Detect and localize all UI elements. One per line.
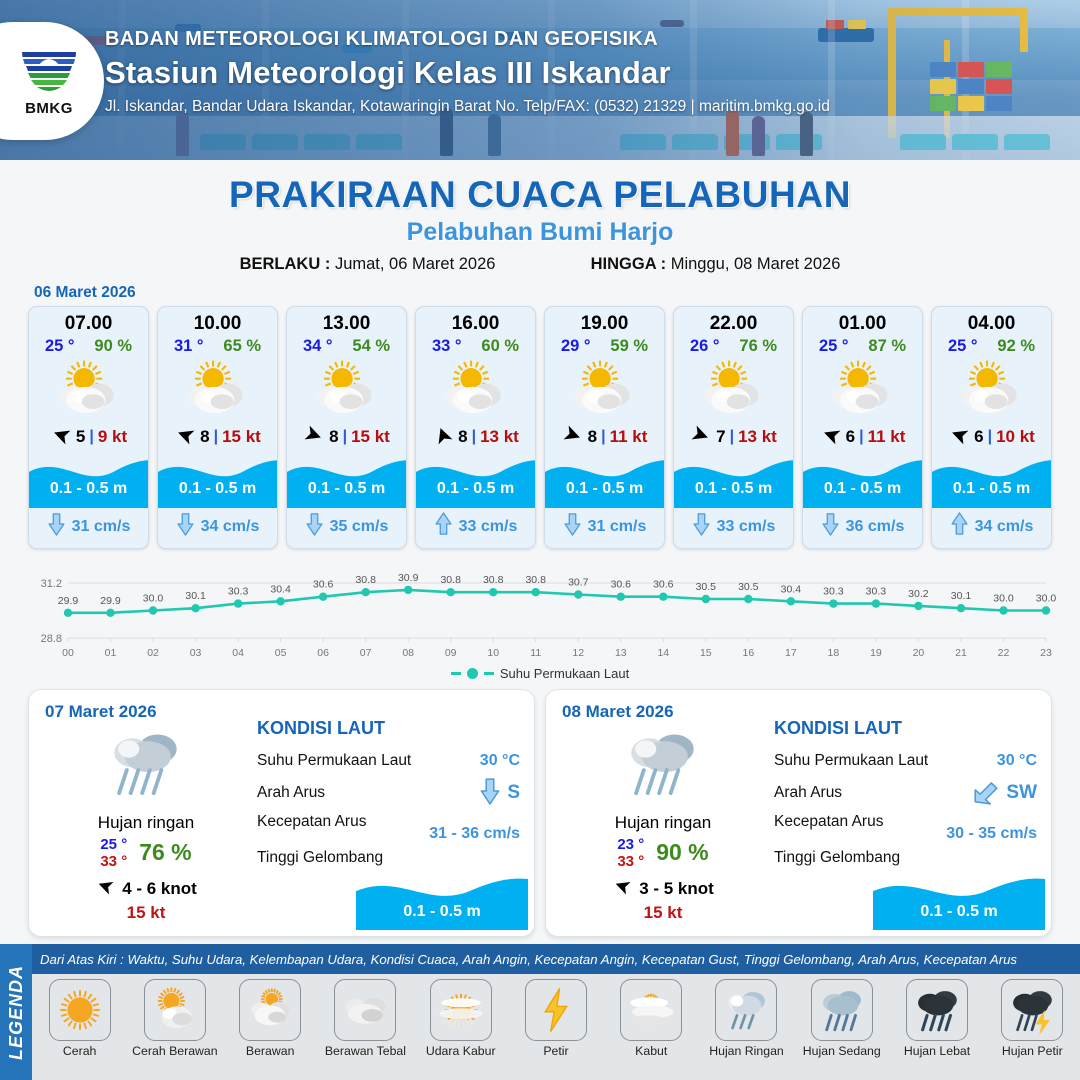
svg-text:14: 14 — [657, 647, 669, 659]
current-speed: 31 cm/s — [588, 518, 647, 536]
current-direction-value: SW — [1006, 782, 1037, 804]
hourly-card[interactable]: 13.00 34 ° 54 % 8 | 15 kt 0.1 - 0.5 m 35… — [286, 306, 407, 549]
gust-speed: 10 kt — [996, 427, 1035, 447]
card-humidity: 92 % — [997, 337, 1035, 356]
card-time: 13.00 — [287, 307, 406, 337]
daily-forecast-panel[interactable]: 08 Maret 2026 Hujan ringan 23 ° 33 ° 90 … — [545, 689, 1052, 937]
legenda-side-label: LEGENDA — [6, 964, 27, 1059]
gust-speed: 13 kt — [738, 427, 777, 447]
wave-height-value: 0.1 - 0.5 m — [29, 480, 148, 498]
wind-separator: | — [730, 428, 734, 446]
svg-text:10: 10 — [487, 647, 499, 659]
svg-text:30.8: 30.8 — [483, 574, 504, 586]
panel-temp-max: 33 ° — [100, 853, 127, 870]
wind-separator: | — [859, 428, 863, 446]
panel-wave-value: 0.1 - 0.5 m — [356, 903, 528, 921]
card-humidity: 87 % — [868, 337, 906, 356]
svg-text:30.4: 30.4 — [781, 583, 802, 595]
legend-label: Suhu Permukaan Laut — [500, 666, 629, 681]
wave-height-value: 0.1 - 0.5 m — [803, 480, 922, 498]
svg-text:09: 09 — [445, 647, 457, 659]
berlaku-value: Jumat, 06 Maret 2026 — [335, 255, 496, 273]
daily-forecast-row: 07 Maret 2026 Hujan ringan 25 ° 33 ° 76 … — [0, 681, 1080, 937]
current-speed-value: 30 - 35 cm/s — [946, 825, 1037, 842]
svg-text:30.6: 30.6 — [611, 579, 632, 591]
legenda-item-label: Cerah Berawan — [127, 1044, 222, 1058]
arrow-down-icon — [479, 777, 501, 810]
wind-separator: | — [89, 428, 93, 446]
legenda-item-label: Berawan Tebal — [318, 1044, 413, 1058]
bmkg-logo-text: BMKG — [12, 100, 86, 117]
agency-name: BADAN METEOROLOGI KLIMATOLOGI DAN GEOFIS… — [105, 28, 830, 51]
current-direction-arrow-icon — [821, 512, 840, 541]
wave-height-value: 0.1 - 0.5 m — [416, 480, 535, 498]
svg-text:20: 20 — [913, 647, 925, 659]
hingga-label: HINGGA : — [591, 255, 666, 273]
legenda-item: Cerah Berawan — [127, 979, 222, 1058]
svg-text:04: 04 — [232, 647, 244, 659]
legenda-item-label: Hujan Sedang — [794, 1044, 889, 1058]
svg-text:30.0: 30.0 — [143, 593, 164, 605]
panel-temp-min: 23 ° — [617, 836, 644, 853]
bmkg-logo-icon — [18, 36, 80, 98]
light-rain-icon — [715, 979, 777, 1041]
legenda-item: Berawan Tebal — [318, 979, 413, 1058]
hourly-card[interactable]: 10.00 31 ° 65 % 8 | 15 kt 0.1 - 0.5 m 34… — [157, 306, 278, 549]
svg-text:22: 22 — [998, 647, 1010, 659]
wind-separator: | — [601, 428, 605, 446]
station-name: Stasiun Meteorologi Kelas III Iskandar — [105, 55, 830, 91]
sst-label: Suhu Permukaan Laut — [774, 752, 928, 770]
sun-behind-cloud-icon — [287, 358, 406, 420]
card-humidity: 76 % — [739, 337, 777, 356]
svg-text:30.2: 30.2 — [908, 588, 929, 600]
legenda-side-tab: LEGENDA — [0, 944, 32, 1080]
svg-text:30.0: 30.0 — [993, 593, 1014, 605]
current-speed-value: 31 - 36 cm/s — [429, 825, 520, 842]
panel-temp-max: 33 ° — [617, 853, 644, 870]
sea-condition-title: KONDISI LAUT — [257, 718, 520, 739]
current-speed: 31 cm/s — [72, 518, 131, 536]
wave-height-value: 0.1 - 0.5 m — [545, 480, 664, 498]
svg-text:13: 13 — [615, 647, 627, 659]
card-time: 07.00 — [29, 307, 148, 337]
page-title: PRAKIRAAN CUACA PELABUHAN — [0, 174, 1080, 216]
wind-direction-arrow-icon — [174, 424, 196, 451]
card-temperature: 26 ° — [690, 337, 720, 356]
wind-separator: | — [214, 428, 218, 446]
wave-height-graphic: 0.1 - 0.5 m — [674, 454, 793, 508]
svg-text:29.9: 29.9 — [100, 595, 121, 607]
card-humidity: 65 % — [223, 337, 261, 356]
svg-text:11: 11 — [530, 647, 541, 659]
daily-forecast-panel[interactable]: 07 Maret 2026 Hujan ringan 25 ° 33 ° 76 … — [28, 689, 535, 937]
hourly-card[interactable]: 16.00 33 ° 60 % 8 | 13 kt 0.1 - 0.5 m 33… — [415, 306, 536, 549]
wind-direction-arrow-icon — [303, 424, 325, 451]
gust-speed: 11 kt — [610, 427, 648, 447]
legenda-item: Hujan Sedang — [794, 979, 889, 1058]
svg-text:19: 19 — [870, 647, 882, 659]
wind-direction-arrow-icon — [690, 424, 712, 451]
panel-gust: 15 kt — [568, 903, 758, 923]
wave-height-graphic: 0.1 - 0.5 m — [287, 454, 406, 508]
cloudy-icon — [239, 979, 301, 1041]
moderate-rain-icon — [811, 979, 873, 1041]
svg-text:30.3: 30.3 — [866, 586, 887, 598]
svg-text:30.5: 30.5 — [738, 581, 759, 593]
svg-text:30.6: 30.6 — [313, 579, 334, 591]
sun-behind-cloud-icon — [416, 358, 535, 420]
wave-height-graphic: 0.1 - 0.5 m — [158, 454, 277, 508]
wind-speed: 5 — [76, 427, 85, 447]
legenda-item-label: Petir — [508, 1044, 603, 1058]
gust-speed: 9 kt — [98, 427, 127, 447]
svg-text:30.3: 30.3 — [228, 586, 249, 598]
sun-behind-cloud-icon — [29, 358, 148, 420]
wave-height-graphic: 0.1 - 0.5 m — [932, 454, 1051, 508]
wave-height-value: 0.1 - 0.5 m — [287, 480, 406, 498]
card-time: 01.00 — [803, 307, 922, 337]
hourly-card[interactable]: 04.00 25 ° 92 % 6 | 10 kt 0.1 - 0.5 m 34… — [931, 306, 1052, 549]
legenda-item-label: Kabut — [604, 1044, 699, 1058]
legenda-section: LEGENDA Dari Atas Kiri : Waktu, Suhu Uda… — [0, 944, 1080, 1080]
svg-text:17: 17 — [785, 647, 797, 659]
hourly-forecast-row: 07.00 25 ° 90 % 5 | 9 kt 0.1 - 0.5 m 31 … — [0, 306, 1080, 549]
svg-text:01: 01 — [105, 647, 117, 659]
current-direction-arrow-icon — [950, 512, 969, 541]
card-time: 04.00 — [932, 307, 1051, 337]
light-rain-icon — [51, 724, 241, 811]
card-temperature: 25 ° — [948, 337, 978, 356]
svg-text:28.8: 28.8 — [41, 633, 62, 645]
wind-speed: 8 — [458, 427, 467, 447]
current-speed: 33 cm/s — [717, 518, 776, 536]
svg-text:30.7: 30.7 — [568, 577, 589, 589]
svg-text:05: 05 — [275, 647, 287, 659]
current-speed: 34 cm/s — [975, 518, 1034, 536]
gust-speed: 11 kt — [868, 427, 906, 447]
sst-line-chart: 31.228.800010203040506070809101112131415… — [20, 559, 1060, 664]
haze-icon — [430, 979, 492, 1041]
panel-condition: Hujan ringan — [51, 813, 241, 833]
svg-text:30.6: 30.6 — [653, 579, 674, 591]
wind-direction-arrow-icon — [820, 424, 842, 451]
current-direction-arrow-icon — [47, 512, 66, 541]
panel-wind-range: 3 - 5 knot — [639, 879, 714, 899]
fog-icon — [620, 979, 682, 1041]
legenda-item: Hujan Petir — [985, 979, 1080, 1058]
svg-text:30.5: 30.5 — [696, 581, 717, 593]
svg-text:30.8: 30.8 — [355, 574, 376, 586]
card-temperature: 31 ° — [174, 337, 204, 356]
current-direction-arrow-icon — [563, 512, 582, 541]
legenda-items-row: Cerah Cerah Berawan Berawan Berawan Teba… — [32, 974, 1080, 1080]
svg-text:30.1: 30.1 — [185, 590, 206, 602]
panel-wind-range: 4 - 6 knot — [122, 879, 197, 899]
sea-condition-title: KONDISI LAUT — [774, 718, 1037, 739]
svg-text:30.0: 30.0 — [1036, 593, 1057, 605]
page-subtitle: Pelabuhan Bumi Harjo — [0, 218, 1080, 247]
card-time: 10.00 — [158, 307, 277, 337]
wind-speed: 8 — [588, 427, 597, 447]
svg-text:30.9: 30.9 — [398, 572, 419, 584]
legenda-item-label: Cerah — [32, 1044, 127, 1058]
sst-label: Suhu Permukaan Laut — [257, 752, 411, 770]
svg-text:08: 08 — [402, 647, 414, 659]
card-humidity: 60 % — [481, 337, 519, 356]
panel-gust: 15 kt — [51, 903, 241, 923]
wind-speed: 7 — [716, 427, 725, 447]
panel-wave-value: 0.1 - 0.5 m — [873, 903, 1045, 921]
panel-humidity: 90 % — [656, 839, 708, 866]
wind-direction-arrow-icon — [562, 424, 584, 451]
legend-dot-marker — [467, 668, 478, 679]
berlaku-label: BERLAKU : — [240, 255, 331, 273]
svg-text:29.9: 29.9 — [58, 595, 79, 607]
title-block: PRAKIRAAN CUACA PELABUHAN Pelabuhan Bumi… — [0, 160, 1080, 274]
overcast-icon — [334, 979, 396, 1041]
header-text-block: BADAN METEOROLOGI KLIMATOLOGI DAN GEOFIS… — [105, 28, 830, 116]
hourly-card[interactable]: 22.00 26 ° 76 % 7 | 13 kt 0.1 - 0.5 m 33… — [673, 306, 794, 549]
svg-text:00: 00 — [62, 647, 74, 659]
current-speed: 33 cm/s — [459, 518, 518, 536]
sun-cloud-icon — [144, 979, 206, 1041]
panel-humidity: 76 % — [139, 839, 191, 866]
wind-speed: 8 — [200, 427, 209, 447]
svg-text:02: 02 — [147, 647, 159, 659]
sst-value: 30 °C — [480, 752, 520, 770]
current-direction-label: Arah Arus — [257, 784, 325, 802]
legenda-item-label: Hujan Lebat — [889, 1044, 984, 1058]
wave-height-graphic: 0.1 - 0.5 m — [416, 454, 535, 508]
current-direction-arrow-icon — [692, 512, 711, 541]
legenda-item: Berawan — [223, 979, 318, 1058]
legenda-item-label: Berawan — [223, 1044, 318, 1058]
card-time: 19.00 — [545, 307, 664, 337]
current-speed: 35 cm/s — [330, 518, 389, 536]
svg-text:07: 07 — [360, 647, 372, 659]
station-address: Jl. Iskandar, Bandar Udara Iskandar, Kot… — [105, 98, 830, 116]
wind-speed: 6 — [846, 427, 855, 447]
svg-text:30.1: 30.1 — [951, 590, 972, 602]
svg-text:30.3: 30.3 — [823, 586, 844, 598]
wind-direction-arrow-icon — [432, 424, 454, 451]
sun-behind-cloud-icon — [932, 358, 1051, 420]
card-humidity: 59 % — [610, 337, 648, 356]
current-speed: 36 cm/s — [846, 518, 905, 536]
sst-value: 30 °C — [997, 752, 1037, 770]
wave-height-graphic: 0.1 - 0.5 m — [29, 454, 148, 508]
wave-height-graphic: 0.1 - 0.5 m — [545, 454, 664, 508]
legenda-item-label: Hujan Petir — [985, 1044, 1080, 1058]
wave-height-value: 0.1 - 0.5 m — [674, 480, 793, 498]
wind-separator: | — [472, 428, 476, 446]
sun-behind-cloud-icon — [158, 358, 277, 420]
current-speed-label: Kecepatan Arus — [257, 813, 366, 831]
light-rain-icon — [568, 724, 758, 811]
current-direction-value: S — [507, 782, 520, 804]
legenda-item: Kabut — [604, 979, 699, 1058]
current-speed: 34 cm/s — [201, 518, 260, 536]
wind-direction-arrow-icon — [612, 876, 632, 901]
legenda-item-label: Udara Kabur — [413, 1044, 508, 1058]
wind-speed: 6 — [974, 427, 983, 447]
card-temperature: 25 ° — [45, 337, 75, 356]
sun-behind-cloud-icon — [545, 358, 664, 420]
svg-text:18: 18 — [828, 647, 840, 659]
svg-text:06: 06 — [317, 647, 329, 659]
card-temperature: 29 ° — [561, 337, 591, 356]
sun-icon — [49, 979, 111, 1041]
lightning-icon — [525, 979, 587, 1041]
svg-text:30.8: 30.8 — [440, 574, 461, 586]
svg-text:31.2: 31.2 — [41, 578, 62, 590]
thunderstorm-icon — [1001, 979, 1063, 1041]
wind-separator: | — [988, 428, 992, 446]
card-temperature: 25 ° — [819, 337, 849, 356]
wave-height-value: 0.1 - 0.5 m — [158, 480, 277, 498]
arrow-down-left-icon — [972, 777, 1000, 810]
current-direction-arrow-icon — [434, 512, 453, 541]
panel-wave-graphic: 0.1 - 0.5 m — [873, 872, 1045, 930]
wave-height-value: 0.1 - 0.5 m — [932, 480, 1051, 498]
chart-legend: Suhu Permukaan Laut — [0, 666, 1080, 681]
wind-direction-arrow-icon — [948, 424, 970, 451]
legenda-item: Hujan Lebat — [889, 979, 984, 1058]
wind-direction-arrow-icon — [95, 876, 115, 901]
legenda-item: Udara Kabur — [413, 979, 508, 1058]
panel-temp-min: 25 ° — [100, 836, 127, 853]
wind-direction-arrow-icon — [50, 424, 72, 451]
current-direction-label: Arah Arus — [774, 784, 842, 802]
svg-text:03: 03 — [190, 647, 202, 659]
sun-behind-cloud-icon — [803, 358, 922, 420]
hourly-date: 06 Maret 2026 — [34, 284, 1080, 302]
hourly-card[interactable]: 07.00 25 ° 90 % 5 | 9 kt 0.1 - 0.5 m 31 … — [28, 306, 149, 549]
current-direction-arrow-icon — [305, 512, 324, 541]
card-humidity: 54 % — [352, 337, 390, 356]
card-temperature: 33 ° — [432, 337, 462, 356]
svg-text:30.4: 30.4 — [270, 583, 291, 595]
hingga-value: Minggu, 08 Maret 2026 — [671, 255, 841, 273]
wind-speed: 8 — [329, 427, 338, 447]
card-temperature: 34 ° — [303, 337, 333, 356]
card-humidity: 90 % — [94, 337, 132, 356]
validity-row: BERLAKU : Jumat, 06 Maret 2026 HINGGA : … — [0, 255, 1080, 274]
hourly-card[interactable]: 19.00 29 ° 59 % 8 | 11 kt 0.1 - 0.5 m 31… — [544, 306, 665, 549]
legenda-item: Hujan Ringan — [699, 979, 794, 1058]
wave-height-graphic: 0.1 - 0.5 m — [803, 454, 922, 508]
svg-text:15: 15 — [700, 647, 712, 659]
page-header: BMKG BADAN METEOROLOGI KLIMATOLOGI DAN G… — [0, 0, 1080, 160]
wind-separator: | — [343, 428, 347, 446]
card-time: 22.00 — [674, 307, 793, 337]
svg-text:16: 16 — [743, 647, 755, 659]
gust-speed: 15 kt — [351, 427, 390, 447]
svg-text:23: 23 — [1040, 647, 1052, 659]
wave-height-label: Tinggi Gelombang — [257, 849, 383, 867]
heavy-rain-icon — [906, 979, 968, 1041]
wave-height-label: Tinggi Gelombang — [774, 849, 900, 867]
current-direction-arrow-icon — [176, 512, 195, 541]
panel-condition: Hujan ringan — [568, 813, 758, 833]
legend-line-marker — [451, 672, 461, 675]
legenda-note: Dari Atas Kiri : Waktu, Suhu Udara, Kele… — [40, 952, 1074, 967]
legenda-item: Petir — [508, 979, 603, 1058]
svg-text:21: 21 — [955, 647, 967, 659]
gust-speed: 15 kt — [222, 427, 261, 447]
svg-text:12: 12 — [572, 647, 584, 659]
legend-line-marker — [484, 672, 494, 675]
panel-wave-graphic: 0.1 - 0.5 m — [356, 872, 528, 930]
gust-speed: 13 kt — [480, 427, 519, 447]
card-time: 16.00 — [416, 307, 535, 337]
current-speed-label: Kecepatan Arus — [774, 813, 883, 831]
legenda-item: Cerah — [32, 979, 127, 1058]
hourly-card[interactable]: 01.00 25 ° 87 % 6 | 11 kt 0.1 - 0.5 m 36… — [802, 306, 923, 549]
sun-behind-cloud-icon — [674, 358, 793, 420]
legenda-item-label: Hujan Ringan — [699, 1044, 794, 1058]
svg-text:30.8: 30.8 — [525, 574, 546, 586]
